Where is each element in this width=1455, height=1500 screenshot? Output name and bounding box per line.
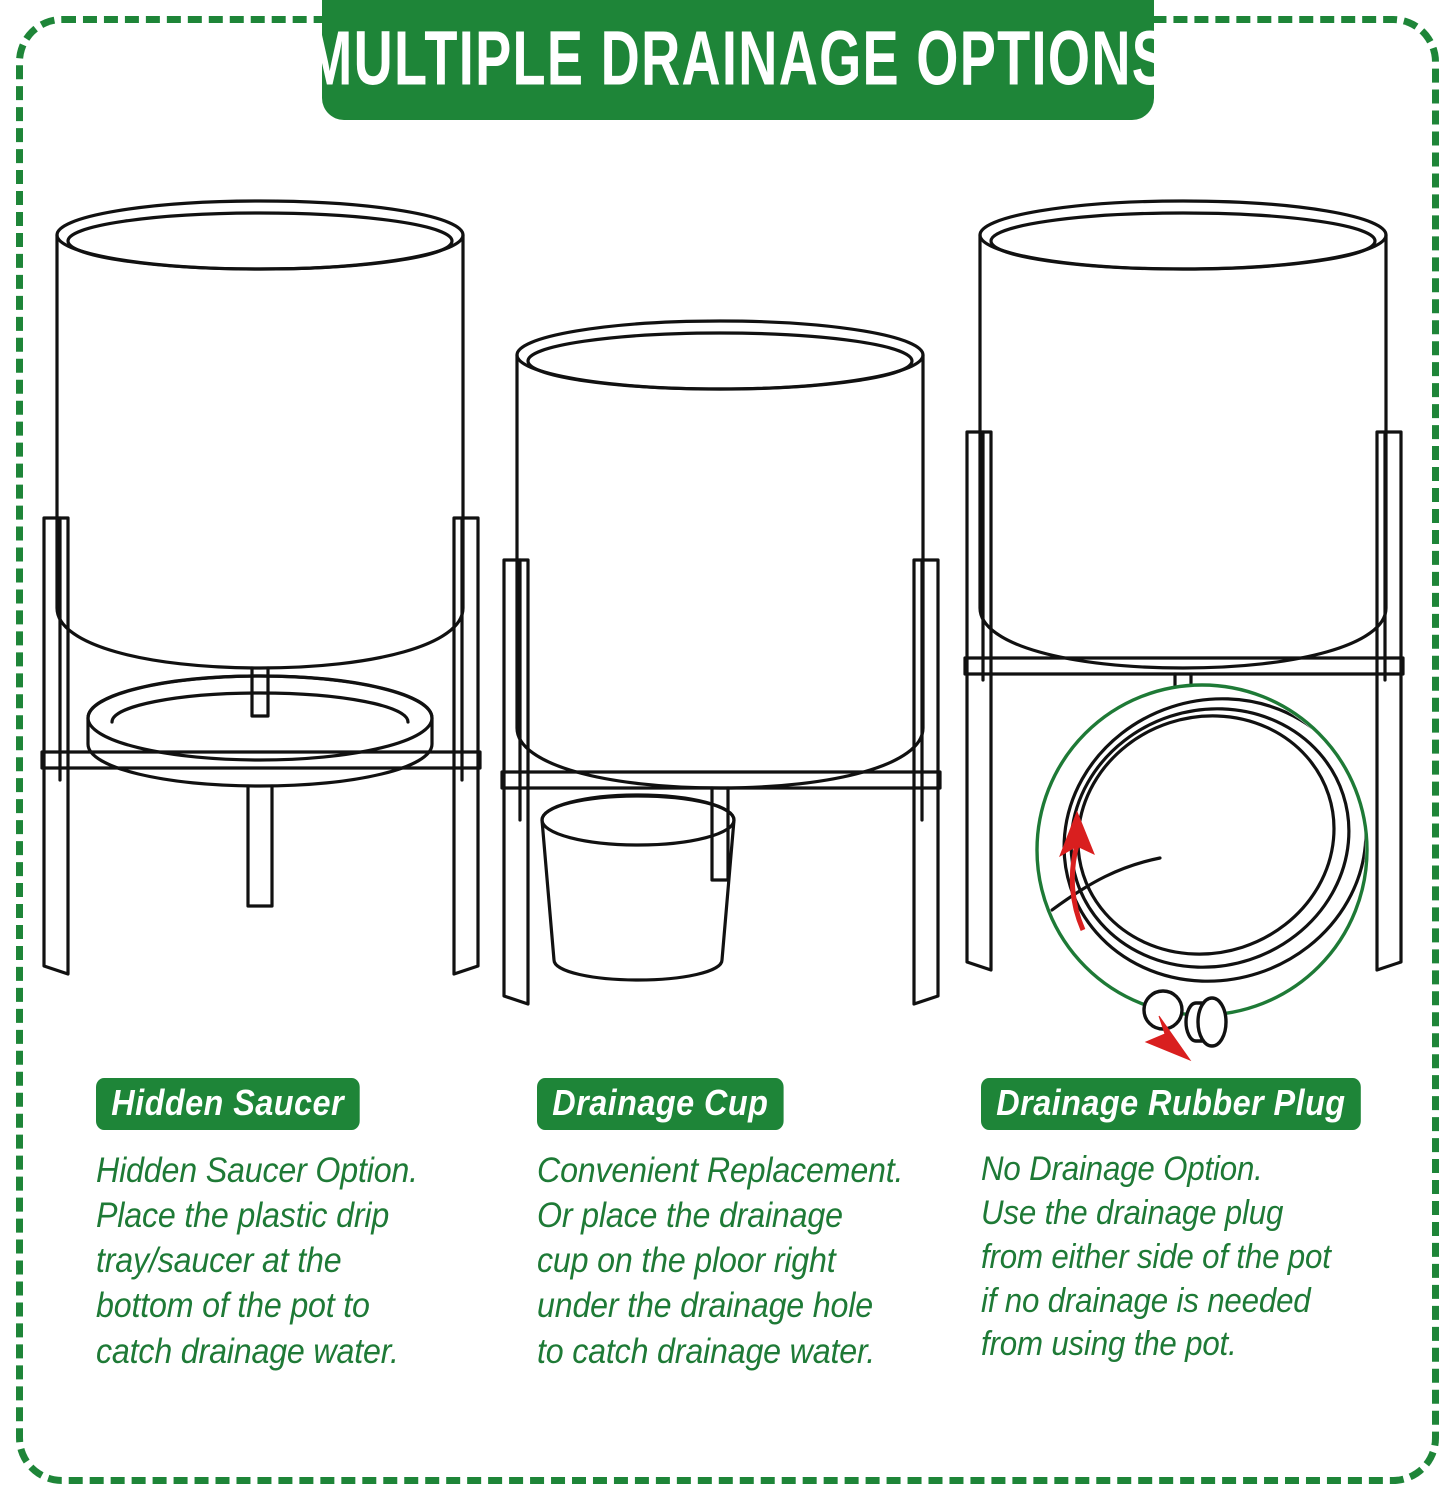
pot-rim: [980, 201, 1386, 269]
plant-stand-front-legs: [504, 560, 938, 1004]
drainage-cup: [542, 795, 734, 980]
body-drainage-rubber-plug: No Drainage Option. Use the drainage plu…: [981, 1148, 1367, 1367]
pot-rim: [517, 321, 923, 389]
description-columns: Hidden Saucer Hidden Saucer Option. Plac…: [0, 1078, 1455, 1478]
cross-bar: [502, 772, 940, 788]
plant-stand-back-legs: [520, 560, 922, 820]
planter-with-drainage-cup: [502, 321, 940, 1004]
plant-stand-back-legs: [983, 432, 1385, 680]
planter-with-hidden-saucer: [42, 201, 480, 974]
pot-rim: [57, 201, 463, 269]
pot-body: [980, 235, 1386, 668]
title-banner: MULTIPLE DRAINAGE OPTIONS: [322, 0, 1154, 120]
column-drainage-rubber-plug: Drainage Rubber Plug No Drainage Option.…: [981, 1078, 1401, 1367]
front-center-leg: [248, 786, 272, 906]
column-hidden-saucer: Hidden Saucer Hidden Saucer Option. Plac…: [96, 1078, 516, 1374]
pot-body: [57, 235, 463, 668]
rubber-plug: [1186, 998, 1226, 1046]
body-drainage-cup: Convenient Replacement. Or place the dra…: [537, 1148, 923, 1374]
page-title: MULTIPLE DRAINAGE OPTIONS: [307, 15, 1169, 103]
label-drainage-cup: Drainage Cup: [537, 1078, 784, 1130]
label-drainage-rubber-plug: Drainage Rubber Plug: [981, 1078, 1361, 1130]
infographic-root: MULTIPLE DRAINAGE OPTIONS: [0, 0, 1455, 1500]
illustrations-area: [0, 140, 1455, 1070]
body-hidden-saucer: Hidden Saucer Option. Place the plastic …: [96, 1148, 482, 1374]
column-drainage-cup: Drainage Cup Convenient Replacement. Or …: [537, 1078, 957, 1374]
pot-body: [517, 355, 923, 788]
cross-bar: [965, 658, 1403, 674]
label-hidden-saucer: Hidden Saucer: [96, 1078, 359, 1130]
